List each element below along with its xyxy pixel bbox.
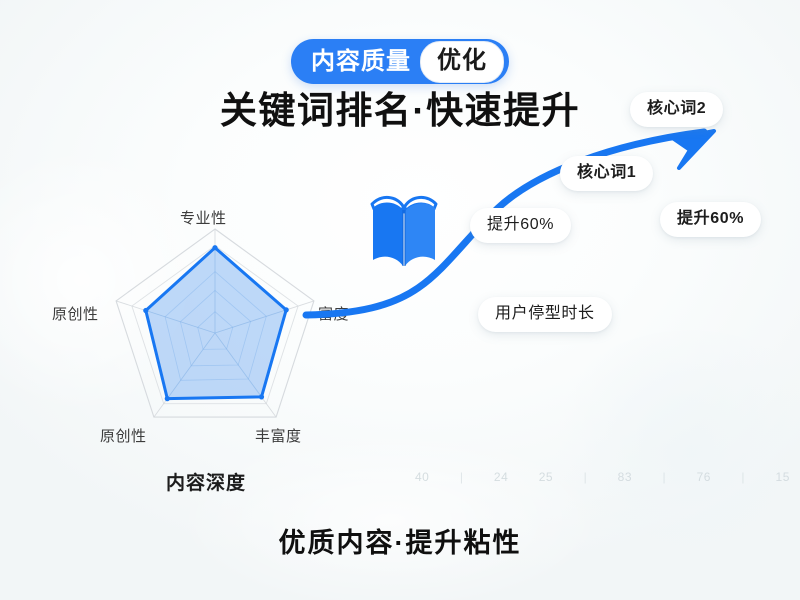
axis-tick-1: | xyxy=(460,470,464,484)
axis-tick-7: 76 xyxy=(697,470,711,484)
pill-uplift-left[interactable]: 提升60% xyxy=(470,208,571,243)
axis-tick-row: 40 | 24 25 | 83 | 76 | 15 xyxy=(415,470,790,484)
badge-pill-label: 优化 xyxy=(420,41,504,83)
axis-tick-4: | xyxy=(584,470,588,484)
axis-tick-5: 83 xyxy=(618,470,632,484)
badge-main-label: 内容质量 xyxy=(311,50,420,74)
pill-core-keyword-2[interactable]: 核心词2 xyxy=(630,92,723,127)
pill-user-dwell-time[interactable]: 用户停型时长 xyxy=(478,297,612,332)
poster-canvas: 内容质量 优化 关键词排名·快速提升 专业性 富度 丰富度 原创性 原创性 xyxy=(0,0,800,600)
header-badge[interactable]: 内容质量 优化 xyxy=(291,39,509,84)
radar-axis-label-4: 原创性 xyxy=(52,303,99,324)
content-depth-label: 内容深度 xyxy=(166,468,246,495)
axis-tick-3: 25 xyxy=(539,470,553,484)
pill-uplift-right[interactable]: 提升60% xyxy=(660,202,761,237)
axis-tick-8: | xyxy=(741,470,745,484)
axis-tick-2: 24 xyxy=(494,470,508,484)
axis-tick-9: 15 xyxy=(776,470,790,484)
radar-axis-label-2: 丰富度 xyxy=(255,425,302,446)
radar-axis-label-0: 专业性 xyxy=(180,207,227,228)
footer-tagline: 优质内容·提升粘性 xyxy=(0,521,800,560)
axis-tick-0: 40 xyxy=(415,470,429,484)
radar-axis-label-3: 原创性 xyxy=(100,425,147,446)
axis-tick-6: | xyxy=(663,470,667,484)
pill-core-keyword-1[interactable]: 核心词1 xyxy=(560,156,653,191)
